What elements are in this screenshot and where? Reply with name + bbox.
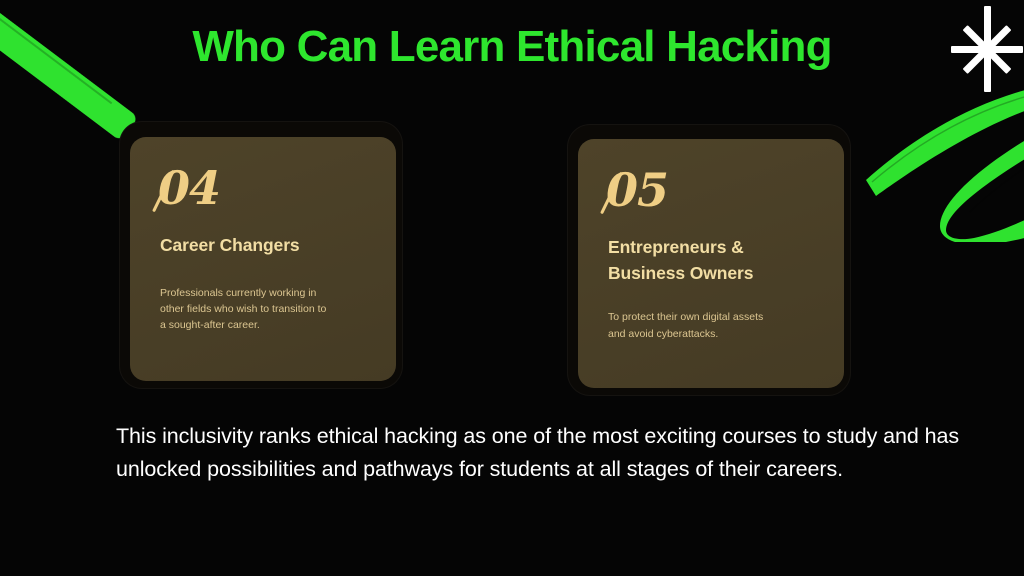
page-title: Who Can Learn Ethical Hacking	[0, 22, 1024, 72]
info-card-04-heading: Career Changers	[160, 233, 372, 259]
info-card-04-number-text: 04	[158, 161, 220, 215]
info-card-04-body: Professionals currently working in other…	[160, 285, 372, 334]
info-card-05-heading: Entrepreneurs & Business Owners	[608, 235, 820, 286]
green-brush-swoosh-top-right-icon	[862, 72, 1024, 242]
info-card-05-panel: 05 Entrepreneurs & Business Owners To pr…	[578, 139, 844, 388]
footer-paragraph: This inclusivity ranks ethical hacking a…	[116, 420, 1004, 487]
info-card-05[interactable]: 05 Entrepreneurs & Business Owners To pr…	[568, 125, 850, 395]
info-card-04-panel: 04 Career Changers Professionals current…	[130, 137, 396, 381]
slide-root: Who Can Learn Ethical Hacking 04 Career …	[0, 0, 1024, 576]
info-card-05-body: To protect their own digital assets and …	[608, 309, 820, 342]
info-card-04[interactable]: 04 Career Changers Professionals current…	[120, 122, 402, 388]
info-card-05-number: 05	[606, 167, 668, 213]
info-card-05-number-text: 05	[606, 163, 668, 217]
info-card-04-number: 04	[158, 165, 220, 211]
